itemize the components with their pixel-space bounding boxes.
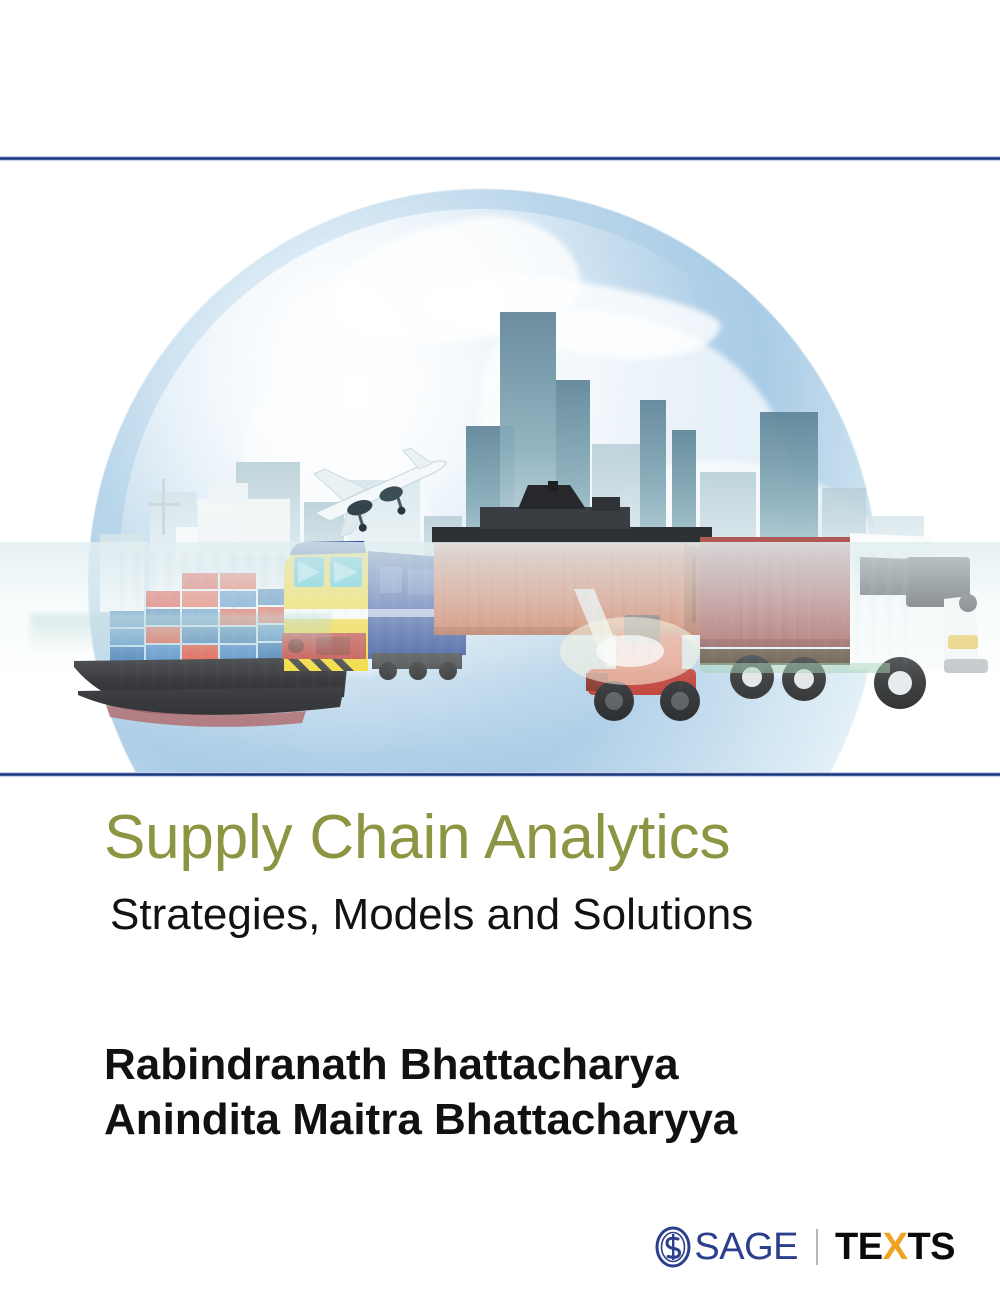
ground-streaks — [120, 552, 920, 702]
author-name: Rabindranath Bhattacharya — [104, 1038, 904, 1093]
logo-divider — [816, 1229, 818, 1265]
title-block: Supply Chain Analytics Strategies, Model… — [104, 806, 904, 939]
publisher-logo: SAGE TEXTS — [653, 1224, 955, 1270]
author-name: Anindita Maitra Bhattacharyya — [104, 1093, 904, 1148]
sage-wordmark: SAGE — [694, 1228, 798, 1266]
texts-prefix: TE — [835, 1228, 883, 1266]
book-cover: Supply Chain Analytics Strategies, Model… — [0, 0, 1000, 1303]
texts-wordmark: TEXTS — [835, 1228, 955, 1266]
cover-artwork — [0, 161, 1000, 772]
author-block: Rabindranath Bhattacharya Anindita Maitr… — [104, 1038, 904, 1147]
sage-emblem-icon — [653, 1226, 693, 1268]
page-title: Supply Chain Analytics — [104, 806, 904, 870]
texts-suffix: TS — [907, 1228, 955, 1266]
texts-accent-letter: X — [883, 1228, 908, 1266]
bottom-divider-rule — [0, 772, 1000, 777]
book-subtitle: Strategies, Models and Solutions — [110, 892, 904, 938]
